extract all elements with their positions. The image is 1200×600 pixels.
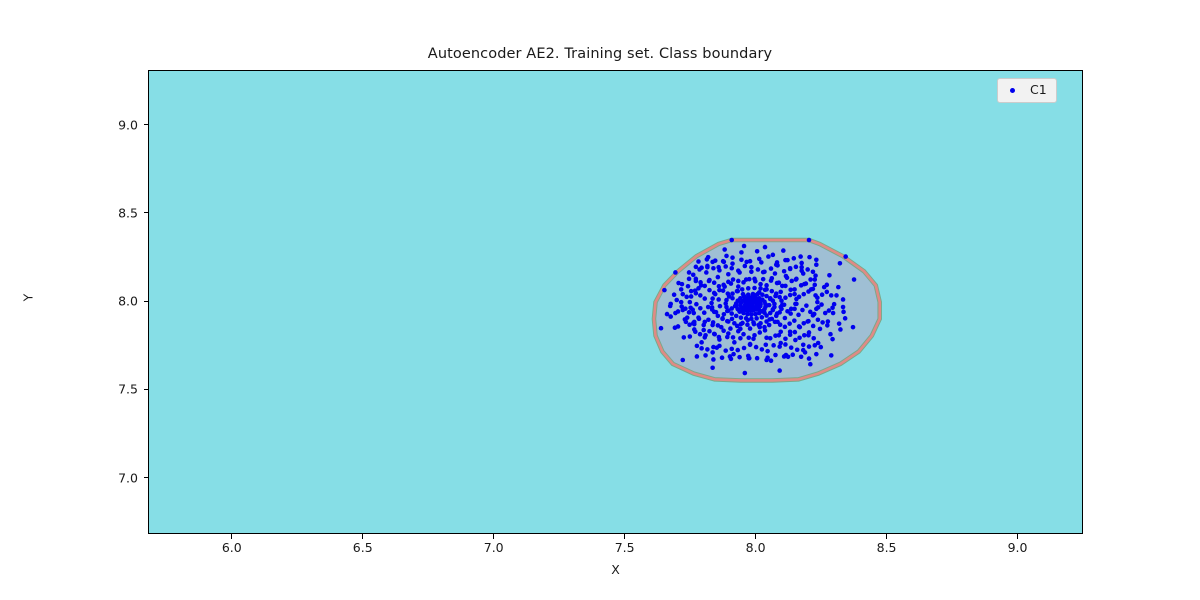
scatter-point [774, 262, 779, 267]
outside-class-region [149, 71, 1083, 534]
scatter-point [819, 302, 824, 307]
scatter-point [716, 275, 721, 280]
scatter-point [726, 272, 731, 277]
scatter-point [755, 249, 760, 254]
scatter-point [783, 284, 788, 289]
scatter-point [827, 308, 832, 313]
scatter-point [720, 317, 725, 322]
scatter-point [829, 293, 834, 298]
scatter-point [729, 347, 734, 352]
scatter-point [834, 293, 839, 298]
scatter-point [742, 346, 747, 351]
scatter-point [682, 335, 687, 340]
scatter-point [838, 261, 843, 266]
scatter-point [721, 259, 726, 264]
scatter-point [702, 296, 707, 301]
scatter-point [788, 329, 793, 334]
scatter-point [688, 305, 693, 310]
scatter-point [717, 288, 722, 293]
y-tick-mark [144, 389, 149, 390]
scatter-point [811, 324, 816, 329]
scatter-point [807, 356, 812, 361]
scatter-point [729, 238, 734, 243]
scatter-point [710, 260, 715, 265]
x-tick-label: 7.0 [484, 540, 504, 555]
scatter-point [798, 254, 803, 259]
scatter-point [732, 340, 737, 345]
scatter-point [843, 254, 848, 259]
scatter-point [816, 341, 821, 346]
scatter-point [751, 304, 756, 309]
scatter-point [764, 335, 769, 340]
x-tick-mark [755, 534, 756, 539]
scatter-point [774, 314, 779, 319]
scatter-point [729, 311, 734, 316]
scatter-point [748, 326, 753, 331]
scatter-point [659, 326, 664, 331]
scatter-point [784, 353, 789, 358]
legend-label-c1: C1 [1030, 84, 1047, 97]
scatter-point [754, 345, 759, 350]
scatter-point [783, 337, 788, 342]
scatter-point [770, 317, 775, 322]
scatter-point [783, 342, 788, 347]
scatter-point [760, 292, 765, 297]
scatter-point [746, 286, 751, 291]
scatter-point [722, 312, 727, 317]
scatter-point [734, 314, 739, 319]
plot-canvas [149, 71, 1083, 534]
scatter-point [694, 302, 699, 307]
scatter-point [766, 254, 771, 259]
scatter-point [831, 311, 836, 316]
scatter-point [826, 319, 831, 324]
scatter-point [822, 285, 827, 290]
scatter-point [745, 322, 750, 327]
scatter-point [775, 320, 780, 325]
scatter-point [730, 255, 735, 260]
scatter-point [680, 358, 685, 363]
legend[interactable]: C1 [997, 78, 1057, 103]
scatter-point [698, 306, 703, 311]
scatter-point [780, 302, 785, 307]
scatter-point [702, 310, 707, 315]
scatter-point [829, 353, 834, 358]
y-axis-label: Y [21, 258, 36, 338]
scatter-point [763, 245, 768, 250]
scatter-point [814, 262, 819, 267]
scatter-point [778, 290, 783, 295]
scatter-point [794, 265, 799, 270]
scatter-point [799, 265, 804, 270]
scatter-point [801, 343, 806, 348]
scatter-point [689, 289, 694, 294]
scatter-point [843, 316, 848, 321]
scatter-point [684, 320, 689, 325]
scatter-point [788, 293, 793, 298]
scatter-point [673, 325, 678, 330]
scatter-point [730, 317, 735, 322]
x-tick-label: 8.5 [877, 540, 897, 555]
scatter-point [673, 270, 678, 275]
scatter-point [736, 279, 741, 284]
scatter-point [827, 273, 832, 278]
scatter-point [679, 300, 684, 305]
scatter-point [851, 325, 856, 330]
scatter-point [802, 333, 807, 338]
scatter-point [746, 335, 751, 340]
scatter-point [807, 255, 812, 260]
scatter-point [769, 266, 774, 271]
scatter-point [760, 347, 765, 352]
scatter-point [771, 253, 776, 258]
y-tick-label: 8.5 [90, 205, 138, 220]
scatter-point [709, 301, 714, 306]
scatter-point [735, 289, 740, 294]
scatter-point [715, 345, 720, 350]
scatter-point [707, 288, 712, 293]
scatter-point [688, 334, 693, 339]
scatter-point [680, 308, 685, 313]
scatter-point [792, 318, 797, 323]
scatter-point [685, 315, 690, 320]
scatter-point [687, 270, 692, 275]
scatter-point [744, 316, 749, 321]
scatter-point [816, 317, 821, 322]
scatter-point [672, 292, 677, 297]
scatter-point [777, 280, 782, 285]
scatter-point [756, 267, 761, 272]
scatter-point [836, 285, 841, 290]
page-title: Autoencoder AE2. Training set. Class bou… [0, 46, 1200, 62]
scatter-point [703, 353, 708, 358]
scatter-point [662, 288, 667, 293]
scatter-point [718, 304, 723, 309]
scatter-point [814, 352, 819, 357]
y-tick-mark [144, 212, 149, 213]
scatter-point [789, 279, 794, 284]
scatter-point [736, 284, 741, 289]
x-tick-mark [1017, 534, 1018, 539]
scatter-point [735, 348, 740, 353]
scatter-point [779, 307, 784, 312]
scatter-point [711, 357, 716, 362]
x-tick-label: 6.5 [353, 540, 373, 555]
scatter-point [794, 277, 799, 282]
scatter-point [710, 323, 715, 328]
scatter-point [797, 335, 802, 340]
scatter-point [807, 238, 812, 243]
scatter-point [811, 336, 816, 341]
scatter-point [743, 264, 748, 269]
scatter-point [764, 283, 769, 288]
scatter-point [699, 340, 704, 345]
scatter-point [809, 287, 814, 292]
scatter-point [793, 338, 798, 343]
scatter-point [695, 344, 700, 349]
scatter-point [668, 304, 673, 309]
scatter-point [698, 332, 703, 337]
scatter-point [757, 330, 762, 335]
scatter-point [706, 255, 711, 260]
scatter-point [728, 354, 733, 359]
scatter-point [710, 365, 715, 370]
scatter-point [719, 325, 724, 330]
scatter-point [818, 327, 823, 332]
scatter-point [692, 327, 697, 332]
scatter-point [807, 344, 812, 349]
scatter-point [799, 261, 804, 266]
scatter-point [749, 265, 754, 270]
scatter-point [792, 307, 797, 312]
scatter-point [731, 277, 736, 282]
scatter-point [743, 371, 748, 376]
scatter-point [781, 248, 786, 253]
scatter-point [763, 328, 768, 333]
scatter-point [689, 294, 694, 299]
scatter-point [757, 325, 762, 330]
scatter-point [785, 258, 790, 263]
scatter-point [777, 295, 782, 300]
scatter-point [804, 303, 809, 308]
scatter-point [770, 289, 775, 294]
scatter-point [722, 247, 727, 252]
scatter-point [752, 286, 757, 291]
scatter-point [799, 355, 804, 360]
scatter-point [773, 353, 778, 358]
scatter-point [788, 266, 793, 271]
scatter-point [739, 322, 744, 327]
scatter-point [711, 266, 716, 271]
scatter-point [691, 311, 696, 316]
scatter-point [811, 269, 816, 274]
scatter-point [841, 297, 846, 302]
scatter-point [742, 244, 747, 249]
scatter-point [812, 283, 817, 288]
scatter-point [796, 313, 801, 318]
scatter-point [707, 329, 712, 334]
scatter-point [794, 297, 799, 302]
y-tick-label: 9.0 [90, 117, 138, 132]
scatter-point [706, 305, 711, 310]
scatter-point [841, 310, 846, 315]
scatter-point [754, 316, 759, 321]
scatter-point [680, 292, 685, 297]
scatter-point [710, 296, 715, 301]
scatter-point [748, 342, 753, 347]
scatter-point [751, 337, 756, 342]
scatter-point [694, 277, 699, 282]
scatter-point [793, 330, 798, 335]
scatter-point [795, 347, 800, 352]
scatter-point [815, 300, 820, 305]
scatter-point [712, 310, 717, 315]
scatter-point [806, 333, 811, 338]
scatter-point [783, 295, 788, 300]
scatter-point [763, 343, 768, 348]
y-tick-label: 7.0 [90, 470, 138, 485]
scatter-point [749, 269, 754, 274]
scatter-point [759, 260, 764, 265]
scatter-point [691, 272, 696, 277]
scatter-point [739, 315, 744, 320]
scatter-point [674, 298, 679, 303]
scatter-point [801, 348, 806, 353]
scatter-point [758, 286, 763, 291]
scatter-point [820, 320, 825, 325]
scatter-point [712, 280, 717, 285]
scatter-point [696, 259, 701, 264]
scatter-point [730, 261, 735, 266]
scatter-point [801, 292, 806, 297]
scatter-point [739, 250, 744, 255]
scatter-point [713, 292, 718, 297]
scatter-point [680, 282, 685, 287]
scatter-point [800, 308, 805, 313]
scatter-point [725, 335, 730, 340]
x-axis-label: X [148, 562, 1083, 577]
scatter-point [788, 287, 793, 292]
scatter-point [712, 332, 717, 337]
scatter-point [755, 356, 760, 361]
x-tick-mark [624, 534, 625, 539]
scatter-point [773, 271, 778, 276]
scatter-point [813, 293, 818, 298]
scatter-point [825, 323, 830, 328]
scatter-point [838, 327, 843, 332]
scatter-point [828, 332, 833, 337]
scatter-point [832, 302, 837, 307]
scatter-point [726, 319, 731, 324]
scatter-point [716, 297, 721, 302]
scatter-point [696, 286, 701, 291]
scatter-point [716, 314, 721, 319]
scatter-point [744, 277, 749, 282]
x-tick-mark [362, 534, 363, 539]
scatter-point [705, 265, 710, 270]
scatter-point [739, 257, 744, 262]
scatter-point [695, 354, 700, 359]
scatter-point [811, 313, 816, 318]
scatter-point [771, 343, 776, 348]
scatter-point [705, 347, 710, 352]
scatter-point [814, 307, 819, 312]
legend-marker-c1-icon [1010, 88, 1015, 93]
scatter-point [758, 321, 763, 326]
scatter-point [790, 352, 795, 357]
x-tick-mark [493, 534, 494, 539]
scatter-point [710, 350, 715, 355]
scatter-point [808, 362, 813, 367]
scatter-point [837, 321, 842, 326]
scatter-point [732, 321, 737, 326]
matplotlib-figure: Autoencoder AE2. Training set. Class bou… [0, 0, 1200, 600]
x-tick-label: 6.0 [222, 540, 242, 555]
scatter-point [764, 294, 769, 299]
scatter-point [717, 337, 722, 342]
scatter-point [774, 291, 779, 296]
scatter-point [765, 349, 770, 354]
scatter-point [820, 292, 825, 297]
scatter-point [777, 368, 782, 373]
scatter-point [783, 325, 788, 330]
scatter-point [707, 279, 712, 284]
scatter-point [722, 284, 727, 289]
scatter-point [688, 300, 693, 305]
scatter-point [673, 311, 678, 316]
scatter-point [738, 336, 743, 341]
scatter-point [737, 270, 742, 275]
scatter-point [778, 341, 783, 346]
scatter-point [787, 321, 792, 326]
scatter-point [703, 333, 708, 338]
scatter-point [720, 355, 725, 360]
scatter-point [686, 284, 691, 289]
scatter-point [701, 328, 706, 333]
x-tick-mark [886, 534, 887, 539]
scatter-point [710, 305, 715, 310]
scatter-point [792, 287, 797, 292]
scatter-point [792, 256, 797, 261]
scatter-point [841, 305, 846, 310]
x-tick-label: 8.0 [746, 540, 766, 555]
scatter-point [723, 348, 728, 353]
scatter-point [697, 267, 702, 272]
scatter-point [698, 293, 703, 298]
scatter-point [782, 269, 787, 274]
scatter-point [801, 321, 806, 326]
scatter-point [761, 270, 766, 275]
scatter-point [788, 311, 793, 316]
scatter-point [760, 315, 765, 320]
scatter-point [777, 333, 782, 338]
scatter-point [704, 270, 709, 275]
scatter-point [789, 345, 794, 350]
scatter-point [784, 274, 789, 279]
scatter-point [783, 316, 788, 321]
scatter-point [801, 271, 806, 276]
scatter-point [691, 321, 696, 326]
x-tick-mark [231, 534, 232, 539]
scatter-point [752, 277, 757, 282]
scatter-point [761, 277, 766, 282]
y-tick-mark [144, 477, 149, 478]
scatter-point [808, 277, 813, 282]
scatter-point [749, 316, 754, 321]
scatter-point [792, 292, 797, 297]
scatter-point [752, 322, 757, 327]
scatter-point [802, 282, 807, 287]
scatter-point [741, 332, 746, 337]
scatter-point [814, 257, 819, 262]
scatter-point [740, 287, 745, 292]
scatter-point [764, 287, 769, 292]
scatter-point [737, 355, 742, 360]
scatter-point [852, 277, 857, 282]
x-tick-label: 9.0 [1008, 540, 1028, 555]
scatter-point [731, 335, 736, 340]
scatter-point [805, 319, 810, 324]
scatter-point [738, 327, 743, 332]
scatter-point [758, 282, 763, 287]
y-tick-mark [144, 301, 149, 302]
scatter-point [696, 315, 701, 320]
scatter-point [687, 277, 692, 282]
scatter-point [679, 287, 684, 292]
scatter-point [729, 266, 734, 271]
scatter-point [825, 290, 830, 295]
scatter-point [668, 314, 673, 319]
